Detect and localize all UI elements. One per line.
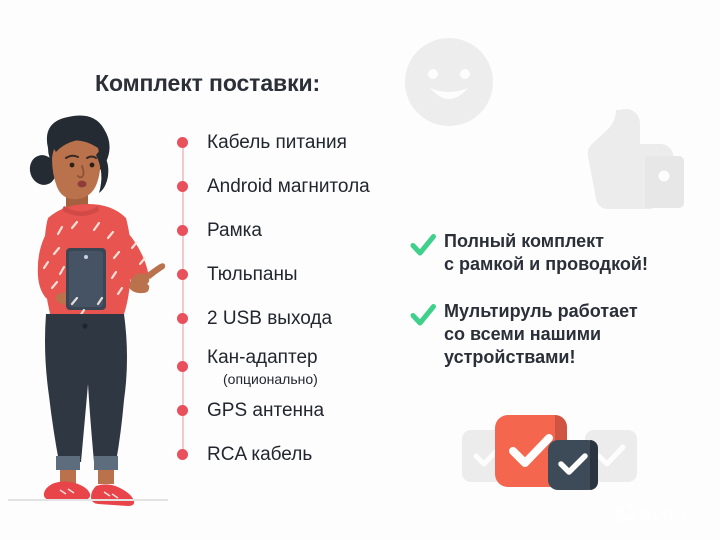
list-item-label-sub: (опционально) — [223, 370, 318, 388]
benefit-line: с рамкой и проводкой! — [444, 253, 648, 276]
thumbs-up-icon — [572, 104, 684, 220]
list-item-label: RCA кабель — [207, 444, 312, 466]
bullet-dot — [177, 181, 188, 192]
woman-pointing-illustration — [8, 108, 168, 508]
benefit-text: Полный комплект с рамкой и проводкой! — [444, 230, 648, 276]
page-title: Комплект поставки: — [95, 70, 320, 97]
green-check-icon — [410, 302, 436, 328]
check-icon — [596, 444, 626, 468]
list-item-label: GPS антенна — [207, 400, 324, 422]
list-item-label-main: Кан-адаптер — [207, 347, 318, 368]
benefit-text: Мультируль работает со всеми нашими устр… — [444, 300, 638, 369]
checkbox-card-cluster — [462, 412, 637, 492]
bullet-dot — [177, 313, 188, 324]
list-item: Кабель питания — [177, 132, 347, 154]
list-item: Android магнитола — [177, 176, 370, 198]
list-item-label: Рамка — [207, 220, 262, 242]
bullet-dot — [177, 137, 188, 148]
list-item-label: Кан-адаптер (опционально) — [207, 347, 318, 388]
list-item: Рамка — [177, 220, 262, 242]
bullet-dot — [177, 225, 188, 236]
benefit-line: устройствами! — [444, 346, 638, 369]
smiley-face-icon — [403, 36, 495, 128]
list-item: Кан-адаптер (опционально) — [177, 347, 318, 388]
bullet-dot — [177, 449, 188, 460]
check-icon — [509, 434, 553, 468]
benefit-line: Полный комплект — [444, 230, 648, 253]
list-item-label: 2 USB выхода — [207, 308, 332, 330]
list-item: GPS антенна — [177, 400, 324, 422]
benefit-item: Полный комплект с рамкой и проводкой! — [410, 230, 648, 276]
list-item: Тюльпаны — [177, 264, 298, 286]
checkbox-card-dark — [548, 440, 598, 490]
benefit-line: Мультируль работает — [444, 300, 638, 323]
poster-canvas: Комплект поставки: Кабель питания Androi… — [0, 0, 720, 540]
list-item: RCA кабель — [177, 444, 312, 466]
green-check-icon — [410, 232, 436, 258]
benefit-item: Мультируль работает со всеми нашими устр… — [410, 300, 638, 369]
check-icon — [558, 453, 588, 477]
bullet-dot — [177, 361, 188, 372]
bullet-dot — [177, 405, 188, 416]
list-item-label: Тюльпаны — [207, 264, 298, 286]
bullet-dot — [177, 269, 188, 280]
avito-watermark: Avito — [612, 500, 704, 528]
list-item-label: Кабель питания — [207, 132, 347, 154]
avito-watermark-label: Avito — [639, 506, 686, 527]
benefit-line: со всеми нашими — [444, 323, 638, 346]
list-item: 2 USB выхода — [177, 308, 332, 330]
list-item-label: Android магнитола — [207, 176, 370, 198]
